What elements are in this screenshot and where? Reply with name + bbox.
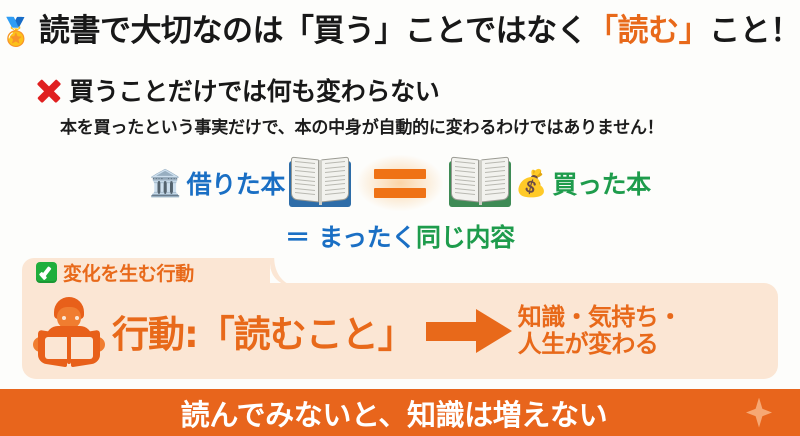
person-reading-book-icon: [32, 295, 106, 369]
cross-mark-icon: [36, 78, 62, 104]
panel-tab: 変化を生む行動: [22, 258, 270, 286]
equals-sign-icon: [361, 157, 439, 209]
purchased-book-label: 💰 買った本: [515, 165, 651, 201]
negative-heading-text: 買うことだけでは何も変わらない: [69, 72, 440, 108]
negative-heading: 買うことだけでは何も変わらない: [36, 72, 440, 108]
equation-caption: ＝ まったく同じ内容: [0, 218, 800, 254]
title-highlight: 「読む」: [587, 13, 709, 49]
page-title: 🏅 読書で大切なのは「買う」ことではなく「読む」こと！: [0, 14, 800, 48]
page-title-text: 読書で大切なのは「買う」ことではなく「読む」こと！: [39, 14, 800, 48]
purchased-book-text: 買った本: [552, 165, 650, 201]
green-check-icon: [36, 262, 57, 283]
panel-tab-label: 変化を生む行動: [63, 259, 194, 286]
result-line-2: 人生が変わる: [518, 330, 658, 358]
sparkle-icon: [746, 398, 772, 428]
title-suffix: こと！: [709, 13, 800, 49]
medal-icon: 🏅: [0, 19, 33, 46]
result-text: 知識・気持ち・ 人生が変わる: [518, 304, 682, 358]
result-line-1: 知識・気持ち・: [518, 303, 682, 331]
borrowed-book-text: 借りた本: [187, 165, 285, 201]
classical-building-icon: 🏛️: [149, 171, 181, 197]
borrowed-book-label: 🏛️ 借りた本: [149, 165, 285, 201]
action-panel: 行動:「読むこと」 知識・気持ち・ 人生が変わる: [22, 283, 778, 379]
money-bag-icon: 💰: [515, 171, 547, 197]
open-book-green-icon: [449, 157, 511, 209]
action-text: 行動:「読むこと」: [112, 304, 414, 358]
bottom-banner: 読んでみないと、知識は増えない: [0, 389, 800, 436]
right-arrow-icon: [426, 309, 512, 353]
negative-subtext: 本を買ったという事実だけで、本の中身が自動的に変わるわけではありません！: [60, 113, 664, 138]
title-prefix: 読書で大切なのは「買う」ことではなく: [39, 13, 587, 49]
equation-caption-blue: ＝ まったく: [285, 223, 416, 252]
equation-caption-green: 同じ内容: [416, 223, 515, 252]
bottom-banner-text: 読んでみないと、知識は増えない: [181, 392, 607, 434]
open-book-blue-icon: [289, 157, 351, 209]
equation-row: 🏛️ 借りた本 💰 買った本: [0, 152, 800, 214]
infographic-slide: 🏅 読書で大切なのは「買う」ことではなく「読む」こと！ 買うことだけでは何も変わ…: [0, 0, 800, 436]
